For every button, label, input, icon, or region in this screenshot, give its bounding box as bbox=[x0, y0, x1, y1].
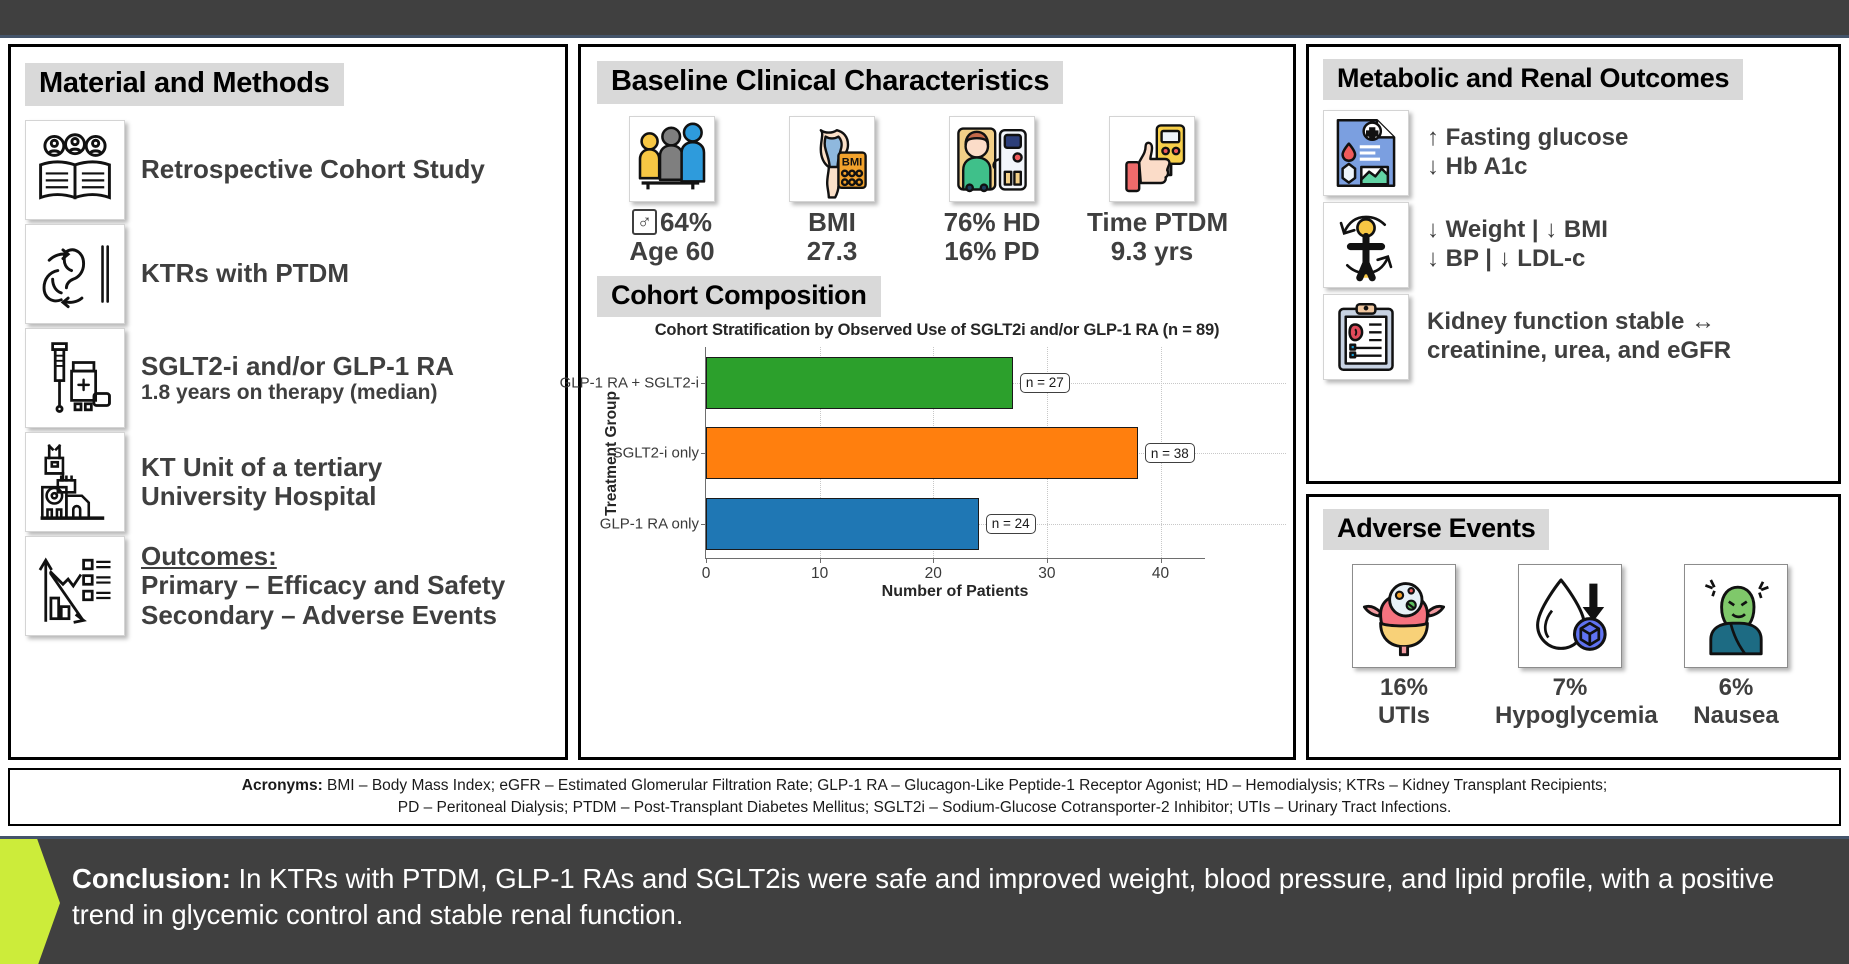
material-methods-list: Retrospective Cohort Study bbox=[25, 120, 551, 636]
stat-line-2: 16% PD bbox=[927, 237, 1057, 266]
conclusion-body: In KTRs with PTDM, GLP-1 RAs and SGLT2is… bbox=[72, 863, 1774, 930]
chart-y-category-label: SGLT2-i only bbox=[613, 445, 699, 462]
adverse-event-label: Nausea bbox=[1661, 702, 1811, 730]
acronyms-strip: Acronyms: BMI – Body Mass Index; eGFR – … bbox=[8, 768, 1841, 826]
poster-canvas: Material and Methods bbox=[0, 0, 1849, 964]
chart-bar-value-label: n = 27 bbox=[1020, 373, 1070, 393]
stat-line-1: Time PTDM bbox=[1087, 208, 1217, 237]
list-item-sublabel: 1.8 years on therapy (median) bbox=[141, 381, 454, 405]
list-item-text: SGLT2-i and/or GLP-1 RA 1.8 years on the… bbox=[141, 352, 454, 405]
adverse-event-label: UTIs bbox=[1329, 702, 1479, 730]
list-item: SGLT2-i and/or GLP-1 RA 1.8 years on the… bbox=[25, 328, 551, 428]
adverse-event-hypoglycemia: 7% Hypoglycemia bbox=[1495, 564, 1645, 729]
adverse-event-label: Hypoglycemia bbox=[1495, 702, 1645, 730]
adverse-event-percent: 6% bbox=[1661, 674, 1811, 702]
conclusion-text: Conclusion: In KTRs with PTDM, GLP-1 RAs… bbox=[72, 861, 1823, 934]
section-heading-baseline: Baseline Clinical Characteristics bbox=[597, 61, 1063, 104]
list-item-label: Retrospective Cohort Study bbox=[141, 155, 485, 184]
section-heading-adverse-events: Adverse Events bbox=[1323, 509, 1549, 550]
adverse-event-nausea: 6% Nausea bbox=[1661, 564, 1811, 729]
acronyms-label: Acronyms: bbox=[242, 777, 323, 794]
syringe-medication-icon bbox=[25, 328, 125, 428]
acronyms-line-2: PD – Peritoneal Dialysis; PTDM – Post-Tr… bbox=[398, 797, 1452, 819]
stat-line-1: BMI bbox=[767, 208, 897, 237]
baseline-stats-row: ♂64% Age 60 BMI bbox=[597, 116, 1279, 266]
chart-bar-value-label: n = 38 bbox=[1145, 443, 1195, 463]
hospital-building-icon bbox=[25, 432, 125, 532]
metabolic-line-1: ↓ Weight | ↓ BMI bbox=[1427, 216, 1608, 245]
chart-x-tick-label: 10 bbox=[811, 565, 828, 583]
chart-bar-slot: GLP-1 RA onlyn = 24 bbox=[706, 489, 1206, 560]
adverse-event-text: 16% UTIs bbox=[1329, 674, 1479, 729]
cohort-stratification-bar-chart: Cohort Stratification by Observed Use of… bbox=[597, 321, 1277, 611]
conclusion-label: Conclusion: bbox=[72, 863, 231, 894]
chart-bar-slot: GLP-1 RA + SGLT2-in = 27 bbox=[706, 347, 1206, 418]
list-item: ↓ Weight | ↓ BMI ↓ BP | ↓ LDL-c bbox=[1323, 202, 1826, 288]
list-item: Retrospective Cohort Study bbox=[25, 120, 551, 220]
right-column: Metabolic and Renal Outcomes bbox=[1306, 44, 1841, 760]
stat-dialysis-modality: 76% HD 16% PD bbox=[927, 116, 1057, 266]
stat-value: 64% bbox=[660, 207, 712, 237]
chart-y-category-label: GLP-1 RA + SGLT2-i bbox=[560, 374, 699, 391]
list-item-text: Kidney function stable ↔ creatinine, ure… bbox=[1427, 308, 1731, 366]
outcomes-text: Outcomes: Primary – Efficacy and Safety … bbox=[141, 542, 505, 629]
svg-text:BMI: BMI bbox=[842, 156, 863, 168]
top-decorative-band bbox=[0, 0, 1849, 38]
stat-line-2: 27.3 bbox=[767, 237, 897, 266]
section-heading-metabolic: Metabolic and Renal Outcomes bbox=[1323, 59, 1743, 100]
list-item: KT Unit of a tertiary University Hospita… bbox=[25, 432, 551, 532]
chart-plot-area: 010203040GLP-1 RA + SGLT2-in = 27SGLT2-i… bbox=[705, 347, 1205, 559]
chart-title: Cohort Stratification by Observed Use of… bbox=[597, 321, 1277, 340]
glucose-drop-down-icon bbox=[1518, 564, 1622, 668]
list-item: Kidney function stable ↔ creatinine, ure… bbox=[1323, 294, 1826, 380]
stat-text: ♂64% Age 60 bbox=[607, 208, 737, 266]
list-item: ↑ Fasting glucose ↓ Hb A1c bbox=[1323, 110, 1826, 196]
main-columns: Material and Methods bbox=[8, 44, 1841, 760]
nausea-person-icon bbox=[1684, 564, 1788, 668]
stat-line-2: Age 60 bbox=[607, 237, 737, 266]
list-item-text: ↑ Fasting glucose ↓ Hb A1c bbox=[1427, 124, 1628, 182]
outcomes-secondary: Secondary – Adverse Events bbox=[141, 601, 505, 630]
chart-checklist-icon bbox=[25, 536, 125, 636]
stat-text: Time PTDM 9.3 yrs bbox=[1087, 208, 1217, 266]
stat-bmi: BMI BMI 27.3 bbox=[767, 116, 897, 266]
metabolic-line-2: ↓ BP | ↓ LDL-c bbox=[1427, 245, 1608, 274]
acronyms-text-1: BMI – Body Mass Index; eGFR – Estimated … bbox=[327, 777, 1607, 794]
chart-x-tick-label: 30 bbox=[1038, 565, 1055, 583]
panel-material-and-methods: Material and Methods bbox=[8, 44, 568, 760]
chart-y-category-label: GLP-1 RA only bbox=[600, 515, 699, 532]
stat-text: BMI 27.3 bbox=[767, 208, 897, 266]
lab-report-icon bbox=[1323, 110, 1409, 196]
chart-x-tick-label: 0 bbox=[702, 565, 711, 583]
stat-time-ptdm: Time PTDM 9.3 yrs bbox=[1087, 116, 1217, 266]
chart-bar-value-label: n = 24 bbox=[986, 514, 1036, 534]
people-group-icon bbox=[629, 116, 715, 202]
adverse-events-row: 16% UTIs bbox=[1323, 564, 1826, 729]
stat-line-1: 76% HD bbox=[927, 208, 1057, 237]
adverse-event-uti: 16% UTIs bbox=[1329, 564, 1479, 729]
chart-x-tick-label: 20 bbox=[925, 565, 942, 583]
male-sex-icon: ♂ bbox=[632, 209, 657, 235]
stat-line-1: ♂64% bbox=[607, 208, 737, 237]
list-item: KTRs with PTDM bbox=[25, 224, 551, 324]
dialysis-patient-icon bbox=[949, 116, 1035, 202]
chart-x-axis-title: Number of Patients bbox=[705, 583, 1205, 601]
body-metabolism-icon bbox=[1323, 202, 1409, 288]
adverse-event-text: 7% Hypoglycemia bbox=[1495, 674, 1645, 729]
panel-metabolic-renal-outcomes: Metabolic and Renal Outcomes bbox=[1306, 44, 1841, 484]
kidneys-cycle-icon bbox=[25, 224, 125, 324]
adverse-event-percent: 7% bbox=[1495, 674, 1645, 702]
section-heading-material-methods: Material and Methods bbox=[25, 63, 344, 106]
adverse-event-text: 6% Nausea bbox=[1661, 674, 1811, 729]
bmi-body-icon: BMI bbox=[789, 116, 875, 202]
list-item-text: KTRs with PTDM bbox=[141, 259, 349, 288]
acronyms-line-1: Acronyms: BMI – Body Mass Index; eGFR – … bbox=[242, 775, 1607, 797]
kidney-clipboard-icon bbox=[1323, 294, 1409, 380]
chart-bar-slot: SGLT2-i onlyn = 38 bbox=[706, 418, 1206, 489]
list-item-label: KT Unit of a tertiary bbox=[141, 453, 382, 482]
list-item-sublabel: University Hospital bbox=[141, 482, 382, 511]
list-item-text: KT Unit of a tertiary University Hospita… bbox=[141, 453, 382, 511]
outcomes-primary: Primary – Efficacy and Safety bbox=[141, 571, 505, 600]
metabolic-list: ↑ Fasting glucose ↓ Hb A1c bbox=[1323, 110, 1826, 380]
cohort-book-icon bbox=[25, 120, 125, 220]
conclusion-band: Conclusion: In KTRs with PTDM, GLP-1 RAs… bbox=[0, 836, 1849, 964]
panel-adverse-events: Adverse Events bbox=[1306, 494, 1841, 760]
list-item-outcomes: Outcomes: Primary – Efficacy and Safety … bbox=[25, 536, 551, 636]
stat-line-2: 9.3 yrs bbox=[1087, 237, 1217, 266]
chart-x-tick-label: 40 bbox=[1152, 565, 1169, 583]
list-item-label: SGLT2-i and/or GLP-1 RA bbox=[141, 352, 454, 381]
adverse-event-percent: 16% bbox=[1329, 674, 1479, 702]
chart-bar: n = 24 bbox=[706, 498, 979, 550]
chart-bar: n = 38 bbox=[706, 427, 1138, 479]
panel-baseline-and-cohort: Baseline Clinical Characteristics bbox=[578, 44, 1296, 760]
chart-bar: n = 27 bbox=[706, 357, 1013, 409]
stat-sex-age: ♂64% Age 60 bbox=[607, 116, 737, 266]
list-item-text: ↓ Weight | ↓ BMI ↓ BP | ↓ LDL-c bbox=[1427, 216, 1608, 274]
bladder-infection-icon bbox=[1352, 564, 1456, 668]
stat-text: 76% HD 16% PD bbox=[927, 208, 1057, 266]
section-heading-cohort-composition: Cohort Composition bbox=[597, 276, 881, 317]
list-item-label: KTRs with PTDM bbox=[141, 259, 349, 288]
outcomes-title: Outcomes: bbox=[141, 542, 505, 571]
glucometer-thumbsup-icon bbox=[1109, 116, 1195, 202]
list-item-text: Retrospective Cohort Study bbox=[141, 155, 485, 184]
metabolic-line-2: ↓ Hb A1c bbox=[1427, 153, 1628, 182]
chevron-arrow-icon bbox=[0, 839, 60, 964]
metabolic-line-1: ↑ Fasting glucose bbox=[1427, 124, 1628, 153]
metabolic-line-1: Kidney function stable ↔ bbox=[1427, 308, 1731, 337]
metabolic-line-2: creatinine, urea, and eGFR bbox=[1427, 337, 1731, 366]
